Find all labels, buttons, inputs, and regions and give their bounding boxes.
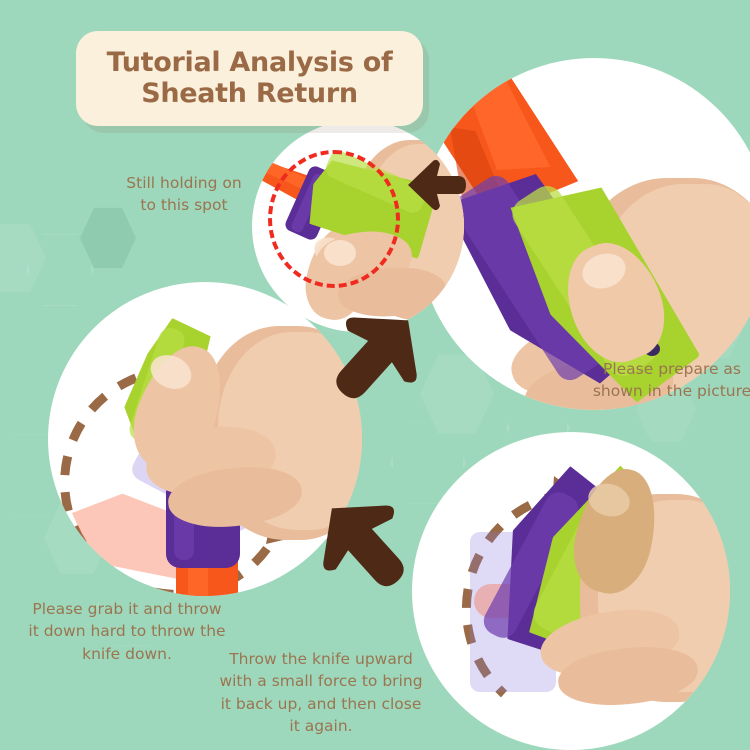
caption-throw-upward: Throw the knife upward with a small forc…	[218, 648, 424, 738]
caption-still-holding: Still holding on to this spot	[104, 172, 264, 217]
caption-grab-throw-down: Please grab it and throw it down hard to…	[18, 598, 236, 665]
arrow-left-icon	[404, 152, 468, 218]
page-title-line1: Tutorial Analysis of	[107, 47, 393, 78]
page-title-card: Tutorial Analysis of Sheath Return	[76, 31, 423, 126]
page-title-line2: Sheath Return	[141, 78, 358, 109]
arrow-down-left-icon	[318, 298, 434, 414]
page-title: Tutorial Analysis of Sheath Return	[107, 48, 393, 108]
highlight-circle	[268, 150, 400, 288]
tutorial-infographic: Tutorial Analysis of Sheath Return Still…	[0, 0, 750, 750]
hexagon-decor	[0, 222, 46, 294]
caption-prepare: Please prepare as shown in the picture	[588, 358, 750, 403]
arrow-down-right-icon	[306, 486, 422, 602]
panel-throw-upward	[412, 432, 730, 750]
